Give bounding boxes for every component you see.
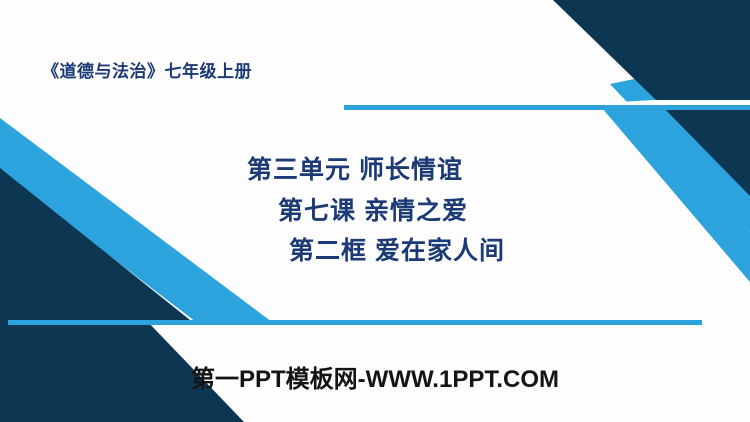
- top-horizontal-rule: [344, 105, 750, 110]
- top-right-white-notch: [560, 100, 750, 105]
- watermark-text: 第一PPT模板网-WWW.1PPT.COM: [0, 359, 750, 394]
- bottom-horizontal-rule: [8, 320, 702, 325]
- title-block: 第三单元 师长情谊 第七课 亲情之爱 第二框 爱在家人间: [0, 150, 750, 272]
- title-line-frame: 第二框 爱在家人间: [0, 231, 750, 272]
- title-line-lesson: 第七课 亲情之爱: [0, 191, 750, 232]
- course-subtitle: 《道德与法治》七年级上册: [42, 57, 252, 82]
- presentation-slide: 《道德与法治》七年级上册 第三单元 师长情谊 第七课 亲情之爱 第二框 爱在家人…: [0, 0, 750, 422]
- title-line-unit: 第三单元 师长情谊: [0, 150, 750, 191]
